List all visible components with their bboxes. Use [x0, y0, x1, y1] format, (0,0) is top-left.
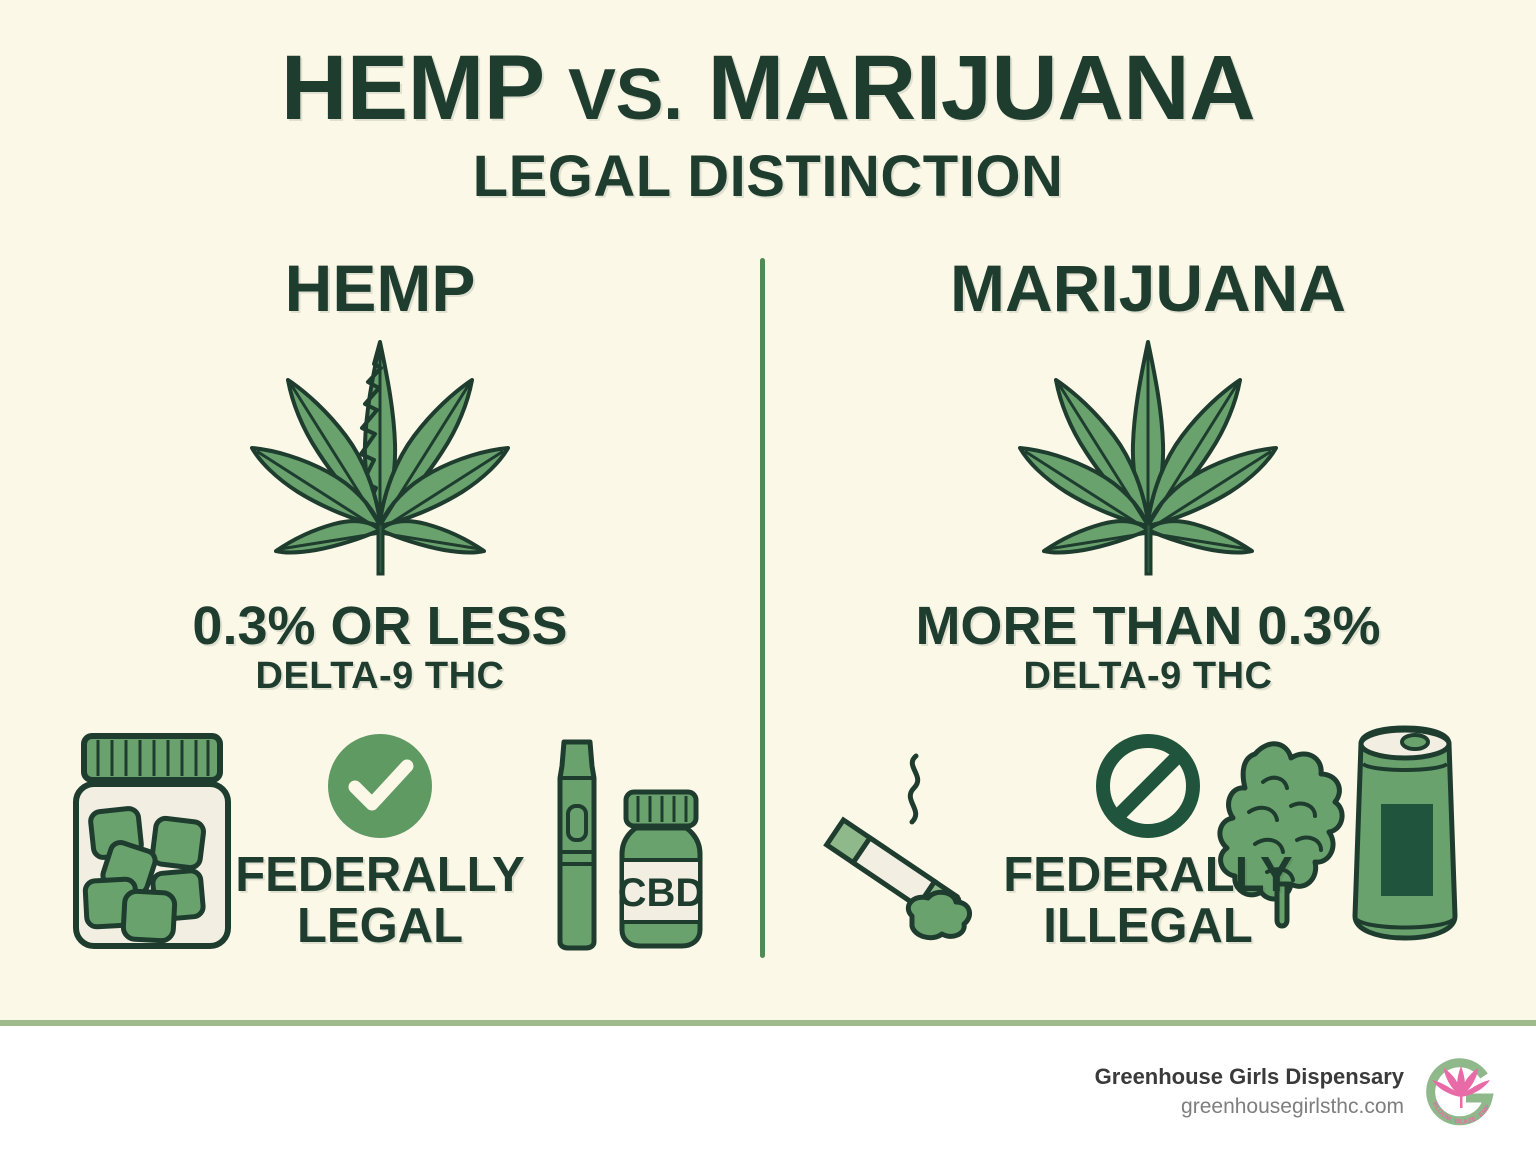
column-marijuana: MARIJUANA: [768, 250, 1528, 970]
cannabis-leaf-icon: [250, 334, 510, 584]
column-hemp: HEMP: [0, 250, 760, 970]
thc-compound-marijuana: DELTA-9 THC: [768, 655, 1528, 698]
cbd-bottle-icon: CBD: [618, 792, 705, 946]
status-group-marijuana: FEDERALLY ILLEGAL: [983, 730, 1313, 952]
thc-compound-hemp: DELTA-9 THC: [0, 655, 760, 698]
lit-joint-icon: [808, 738, 1008, 948]
status-label-marijuana: FEDERALLY ILLEGAL: [983, 850, 1313, 952]
greenhouse-girls-logo: BLOOM. BLAZE. EMPOWER.: [1422, 1054, 1500, 1132]
footer: Greenhouse Girls Dispensary greenhousegi…: [0, 1026, 1536, 1154]
column-heading-hemp: HEMP: [0, 250, 760, 326]
cbd-bottle-label: CBD: [618, 871, 705, 915]
footer-website-url[interactable]: greenhousegirlsthc.com: [1095, 1092, 1404, 1122]
footer-brand-name: Greenhouse Girls Dispensary: [1095, 1063, 1404, 1092]
title-vs: VS.: [568, 55, 683, 135]
cannabis-leaf-icon: [1018, 334, 1278, 584]
prohibition-icon: [1092, 730, 1204, 842]
thc-amount-marijuana: MORE THAN 0.3%: [768, 595, 1528, 657]
check-circle-icon: [324, 730, 436, 842]
status-label-line1: FEDERALLY: [983, 850, 1313, 901]
column-divider: [760, 258, 765, 958]
status-group-hemp: FEDERALLY LEGAL: [215, 730, 545, 952]
status-label-line2: LEGAL: [215, 901, 545, 952]
beverage-can-icon: [1355, 728, 1455, 938]
title-marijuana: MARIJUANA: [708, 37, 1256, 139]
infographic-root: HEMP VS. MARIJUANA LEGAL DISTINCTION HEM…: [0, 0, 1536, 1154]
thc-amount-hemp: 0.3% OR LESS: [0, 595, 760, 657]
page-title: HEMP VS. MARIJUANA: [0, 42, 1536, 136]
title-hemp: HEMP: [281, 37, 543, 139]
status-label-hemp: FEDERALLY LEGAL: [215, 850, 545, 952]
vape-pen-icon: [560, 742, 594, 948]
page-subtitle: LEGAL DISTINCTION: [0, 143, 1536, 210]
vape-and-cbd-group: CBD: [540, 732, 725, 954]
column-heading-marijuana: MARIJUANA: [768, 250, 1528, 326]
status-label-line2: ILLEGAL: [983, 901, 1313, 952]
status-label-line1: FEDERALLY: [215, 850, 545, 901]
